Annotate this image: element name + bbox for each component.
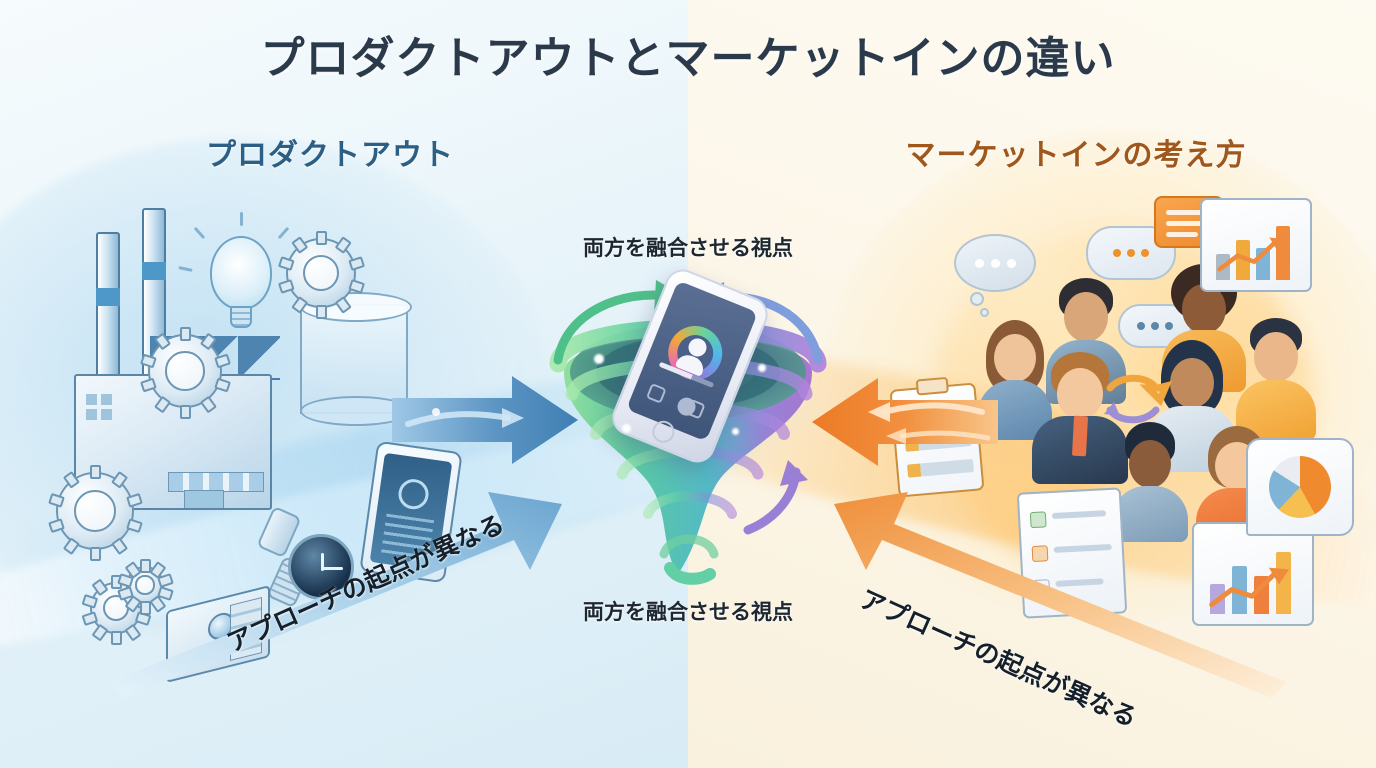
sparkle: [758, 364, 766, 372]
bar-chart-card: [1200, 198, 1312, 292]
gear-tooth: [90, 465, 101, 479]
person-avatar: [1236, 324, 1316, 440]
sparkle: [622, 424, 631, 433]
right-section-heading: マーケットインの考え方: [856, 130, 1296, 174]
gear-icon: [148, 334, 222, 408]
gear-tooth: [62, 537, 79, 555]
gear-tooth: [277, 279, 294, 294]
thought-bubble-tail: [970, 292, 984, 306]
thought-bubble-tail: [980, 308, 989, 317]
gear-tooth: [316, 231, 327, 245]
lightbulb-base: [230, 306, 252, 328]
sparkle: [732, 428, 739, 435]
gear-tooth: [81, 594, 98, 609]
arrow-left-to-center: [392, 368, 582, 476]
lightbulb-icon: [210, 236, 272, 310]
gear-tooth: [291, 236, 308, 254]
gear-tooth: [277, 256, 294, 271]
light-ray: [240, 212, 243, 226]
gear-tooth: [316, 305, 327, 319]
gear-tooth: [180, 405, 191, 419]
light-ray: [194, 227, 206, 239]
gear-tooth: [334, 236, 351, 254]
gear-tooth: [348, 279, 365, 294]
fusion-tornado-illustration: [552, 268, 824, 590]
app-icon: [646, 383, 667, 404]
thought-bubble-icon: [954, 234, 1036, 292]
gear-tooth: [48, 518, 65, 533]
gear-tooth: [48, 493, 65, 508]
gear-tooth: [180, 327, 191, 341]
trend-arrow-icon: [1210, 236, 1299, 274]
arrow-right-to-center: [806, 372, 998, 474]
gear-tooth: [348, 256, 365, 271]
gear-tooth: [90, 547, 101, 561]
left-section-heading: プロダクトアウト: [120, 130, 540, 174]
gear-icon: [286, 238, 356, 308]
sparkle: [594, 354, 604, 364]
smokestack: [96, 232, 120, 380]
center-label-bottom: 両方を融合させる視点: [523, 596, 853, 626]
center-label-top: 両方を融合させる視点: [523, 232, 853, 262]
gear-tooth: [91, 578, 108, 596]
gear-tooth: [81, 611, 98, 626]
page-title: プロダクトアウトとマーケットインの違い: [0, 22, 1376, 86]
light-ray: [178, 266, 192, 272]
infographic-canvas: プロダクトアウトとマーケットインの違い プロダクトアウト マーケットインの考え方…: [0, 0, 1376, 768]
light-ray: [278, 227, 290, 239]
necktie: [1072, 416, 1088, 457]
exchange-arrows-icon: [1104, 368, 1166, 430]
